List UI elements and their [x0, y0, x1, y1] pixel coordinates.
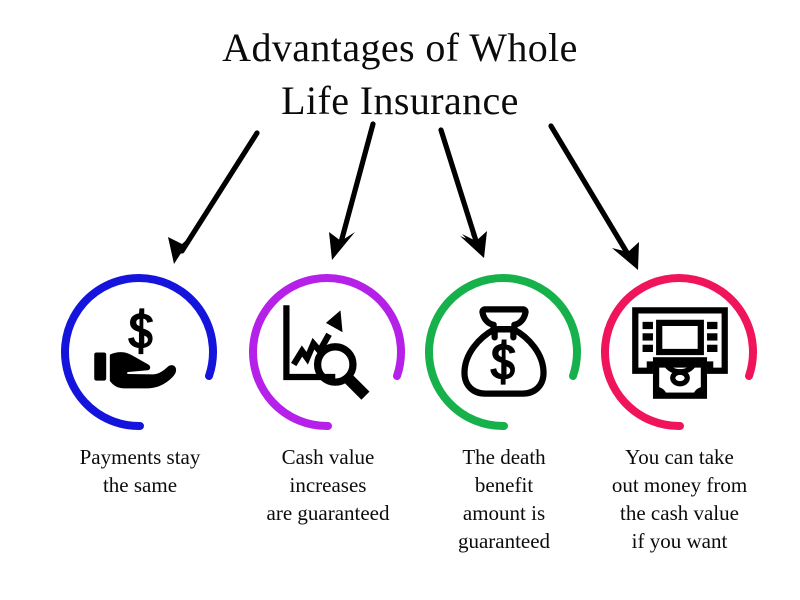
arrow-to-item-4 [551, 126, 639, 270]
caption-line: are guaranteed [223, 500, 433, 528]
caption-line: benefit [409, 472, 599, 500]
advantage-item-2[interactable]: Cash value increases are guaranteed [228, 268, 428, 528]
growth-chart-magnifier-icon [276, 300, 380, 404]
money-bag-dollar-icon [452, 300, 556, 404]
advantage-caption-4: You can take out money from the cash val… [572, 444, 787, 556]
arrow-to-item-2 [329, 124, 373, 260]
arrow-to-item-3 [441, 130, 487, 258]
icon-badge-3 [420, 268, 588, 436]
atm-cash-dispense-icon [628, 300, 732, 404]
caption-line: Cash value [223, 444, 433, 472]
advantage-item-4[interactable]: You can take out money from the cash val… [580, 268, 780, 556]
hand-holding-dollar-icon [88, 300, 192, 404]
advantage-caption-3: The death benefit amount is guaranteed [409, 444, 599, 556]
advantage-caption-2: Cash value increases are guaranteed [223, 444, 433, 528]
advantage-caption-1: Payments stay the same [40, 444, 240, 500]
caption-line: amount is [409, 500, 599, 528]
caption-line: You can take [572, 444, 787, 472]
caption-line: Payments stay [40, 444, 240, 472]
arrow-to-item-1 [168, 133, 257, 264]
caption-line: out money from [572, 472, 787, 500]
caption-line: The death [409, 444, 599, 472]
caption-line: if you want [572, 528, 787, 556]
advantages-row: Payments stay the same [0, 268, 800, 588]
icon-badge-2 [244, 268, 412, 436]
infographic-canvas: Advantages of Whole Life Insurance [0, 0, 800, 600]
icon-badge-4 [596, 268, 764, 436]
caption-line: increases [223, 472, 433, 500]
caption-line: the same [40, 472, 240, 500]
advantage-item-1[interactable]: Payments stay the same [40, 268, 240, 500]
caption-line: the cash value [572, 500, 787, 528]
caption-line: guaranteed [409, 528, 599, 556]
icon-badge-1 [56, 268, 224, 436]
